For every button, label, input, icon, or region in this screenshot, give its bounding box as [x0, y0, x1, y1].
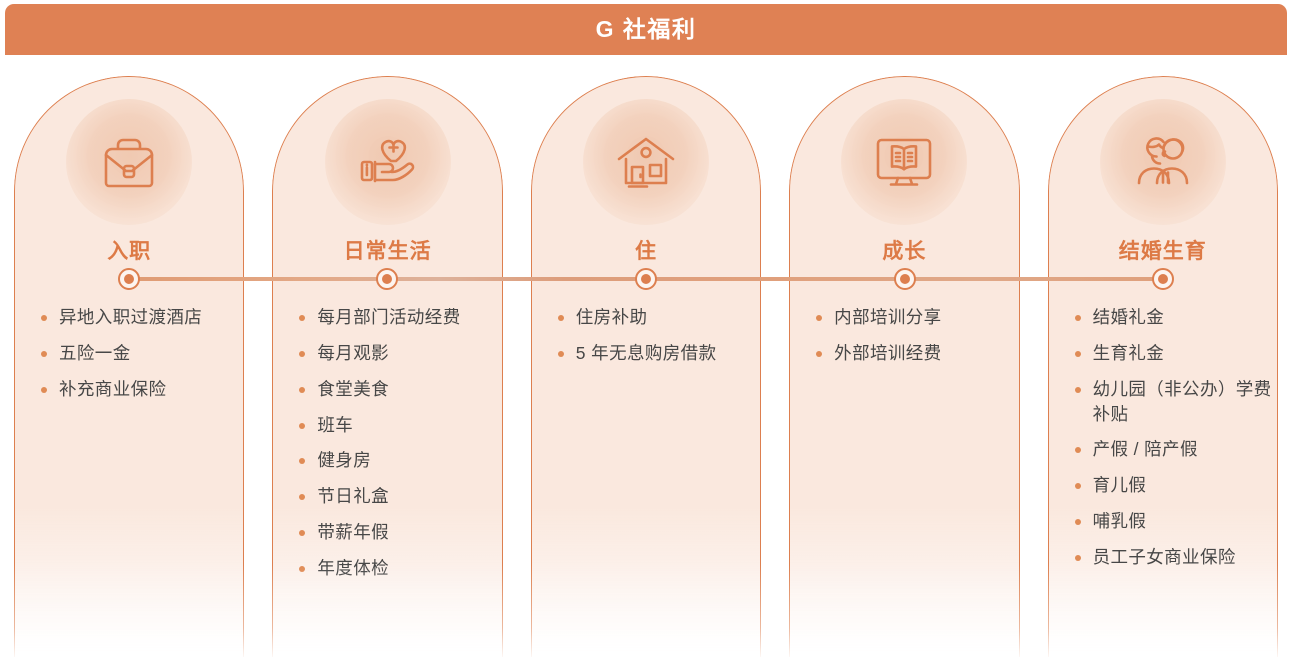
bullet-dot: [1075, 483, 1081, 489]
bullet-dot: [41, 351, 47, 357]
columns-container: 入职 异地入职过渡酒店 五险一金 补充商业保险: [0, 62, 1292, 657]
benefit-column-growth[interactable]: 成长 内部培训分享 外部培训经费: [775, 62, 1033, 657]
list-item: 产假 / 陪产假: [1067, 437, 1277, 462]
benefit-list: 结婚礼金 生育礼金 幼儿园（非公办）学费补贴 产假 / 陪产假 育儿假 哺乳假 …: [1049, 305, 1277, 581]
list-item: 员工子女商业保险: [1067, 545, 1277, 570]
list-item: 外部培训经费: [808, 341, 1018, 366]
column-title: 日常生活: [273, 235, 501, 265]
list-item: 哺乳假: [1067, 509, 1277, 534]
list-item: 结婚礼金: [1067, 305, 1277, 330]
list-item: 食堂美食: [291, 377, 501, 402]
list-item: 异地入职过渡酒店: [33, 305, 243, 330]
house-icon: [610, 127, 682, 199]
list-item: 每月部门活动经费: [291, 305, 501, 330]
bullet-dot: [1075, 447, 1081, 453]
arch-card: 入职 异地入职过渡酒店 五险一金 补充商业保险: [14, 76, 244, 657]
page-title: G 社福利: [596, 18, 697, 41]
bullet-dot: [1075, 555, 1081, 561]
bullet-dot: [816, 315, 822, 321]
column-title: 结婚生育: [1049, 235, 1277, 265]
header-bar: G 社福利: [5, 4, 1287, 55]
list-item: 内部培训分享: [808, 305, 1018, 330]
hand-heart-plus-icon: [352, 127, 424, 199]
benefit-list: 每月部门活动经费 每月观影 食堂美食 班车 健身房 节日礼盒 带薪年假 年度体检: [273, 305, 501, 592]
benefit-column-daily-life[interactable]: 日常生活 每月部门活动经费 每月观影 食堂美食 班车 健身房 节日礼盒 带薪年假…: [258, 62, 516, 657]
bullet-dot: [299, 351, 305, 357]
bullet-dot: [299, 566, 305, 572]
bullet-dot: [1075, 387, 1081, 393]
benefit-column-housing[interactable]: 住 住房补助 5 年无息购房借款: [517, 62, 775, 657]
list-item: 5 年无息购房借款: [550, 341, 760, 366]
list-item: 带薪年假: [291, 520, 501, 545]
monitor-book-icon: [868, 127, 940, 199]
list-item: 生育礼金: [1067, 341, 1277, 366]
list-item: 每月观影: [291, 341, 501, 366]
list-item: 育儿假: [1067, 473, 1277, 498]
bullet-dot: [299, 423, 305, 429]
arch-card: 成长 内部培训分享 外部培训经费: [789, 76, 1019, 657]
bullet-dot: [299, 530, 305, 536]
list-item: 年度体检: [291, 556, 501, 581]
column-title: 住: [532, 235, 760, 265]
column-title: 成长: [790, 235, 1018, 265]
benefits-infographic: G 社福利 入职 异地入职过: [0, 0, 1292, 657]
list-item: 住房补助: [550, 305, 760, 330]
bullet-dot: [299, 387, 305, 393]
bullet-dot: [41, 387, 47, 393]
list-item: 班车: [291, 413, 501, 438]
list-item: 补充商业保险: [33, 377, 243, 402]
bullet-dot: [558, 315, 564, 321]
benefit-column-marriage-parenting[interactable]: 结婚生育 结婚礼金 生育礼金 幼儿园（非公办）学费补贴 产假 / 陪产假 育儿假…: [1034, 62, 1292, 657]
list-item: 幼儿园（非公办）学费补贴: [1067, 377, 1277, 427]
benefit-list: 异地入职过渡酒店 五险一金 补充商业保险: [15, 305, 243, 413]
bullet-dot: [558, 351, 564, 357]
arch-card: 结婚生育 结婚礼金 生育礼金 幼儿园（非公办）学费补贴 产假 / 陪产假 育儿假…: [1048, 76, 1278, 657]
bullet-dot: [1075, 315, 1081, 321]
bullet-dot: [299, 315, 305, 321]
benefit-column-onboarding[interactable]: 入职 异地入职过渡酒店 五险一金 补充商业保险: [0, 62, 258, 657]
bullet-dot: [1075, 519, 1081, 525]
briefcase-icon: [93, 127, 165, 199]
bullet-dot: [816, 351, 822, 357]
list-item: 节日礼盒: [291, 484, 501, 509]
arch-card: 住 住房补助 5 年无息购房借款: [531, 76, 761, 657]
bullet-dot: [41, 315, 47, 321]
couple-icon: [1127, 127, 1199, 199]
list-item: 健身房: [291, 448, 501, 473]
benefit-list: 内部培训分享 外部培训经费: [790, 305, 1018, 377]
list-item: 五险一金: [33, 341, 243, 366]
bullet-dot: [299, 458, 305, 464]
column-title: 入职: [15, 235, 243, 265]
bullet-dot: [299, 494, 305, 500]
arch-card: 日常生活 每月部门活动经费 每月观影 食堂美食 班车 健身房 节日礼盒 带薪年假…: [272, 76, 502, 657]
bullet-dot: [1075, 351, 1081, 357]
benefit-list: 住房补助 5 年无息购房借款: [532, 305, 760, 377]
